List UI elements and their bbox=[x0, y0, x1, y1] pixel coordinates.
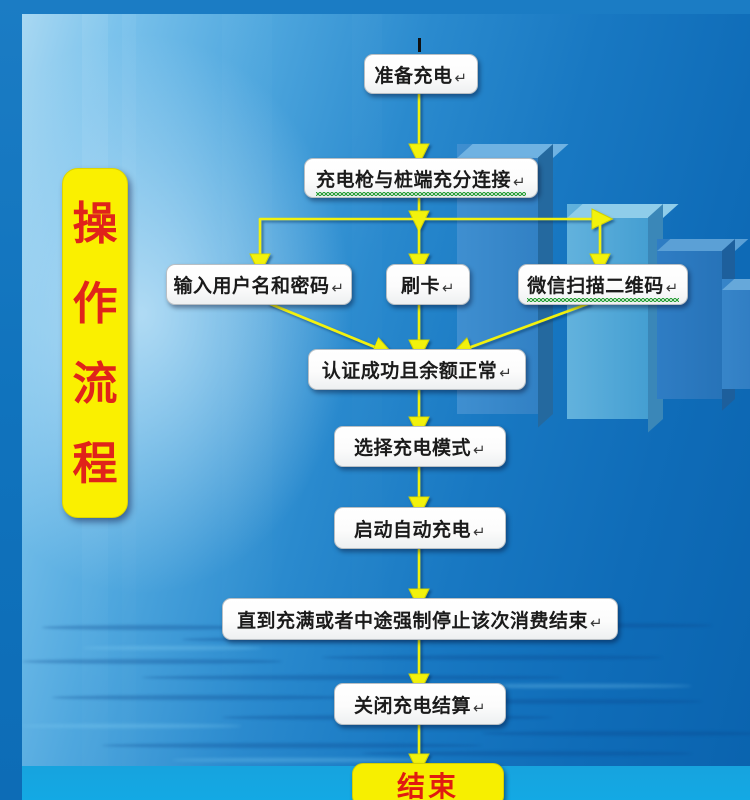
bg-streak bbox=[222, 14, 272, 800]
node-login[interactable]: 输入用户名和密码↵ bbox=[166, 264, 352, 305]
spellcheck-underline bbox=[316, 192, 526, 196]
node-label: 认证成功且余额正常↵ bbox=[322, 356, 513, 383]
node-auth[interactable]: 认证成功且余额正常↵ bbox=[308, 349, 526, 390]
flowchart-canvas: 操 作 流 程 准备充电↵ 充电枪与桩端充分连接↵ 输入用户名和密码↵ 刷卡↵ … bbox=[0, 0, 750, 800]
decorative-bar-4 bbox=[722, 279, 750, 389]
node-label: 关闭充电结算↵ bbox=[354, 691, 486, 718]
node-settle[interactable]: 关闭充电结算↵ bbox=[334, 683, 506, 725]
node-swipe[interactable]: 刷卡↵ bbox=[386, 264, 470, 305]
text-cursor-caret bbox=[418, 38, 421, 52]
node-prepare[interactable]: 准备充电↵ bbox=[364, 54, 478, 94]
vertical-title-char: 操 bbox=[72, 201, 117, 246]
decorative-bar-2 bbox=[567, 204, 663, 419]
node-label: 输入用户名和密码↵ bbox=[173, 271, 344, 298]
vertical-title-char: 流 bbox=[72, 361, 117, 406]
node-charging[interactable]: 直到充满或者中途强制停止该次消费结束↵ bbox=[222, 598, 618, 640]
node-label: 刷卡↵ bbox=[401, 271, 455, 298]
node-label: 结束 bbox=[397, 765, 459, 800]
node-qrcode[interactable]: 微信扫描二维码↵ bbox=[518, 264, 688, 305]
node-end-terminator[interactable]: 结束 bbox=[352, 763, 504, 800]
spellcheck-underline bbox=[527, 298, 679, 302]
node-label: 启动自动充电↵ bbox=[354, 515, 486, 542]
node-label: 准备充电↵ bbox=[374, 61, 467, 88]
vertical-title-char: 作 bbox=[72, 281, 117, 326]
node-label: 充电枪与桩端充分连接↵ bbox=[316, 165, 526, 192]
node-label: 微信扫描二维码↵ bbox=[527, 271, 679, 298]
vertical-title-banner: 操 作 流 程 bbox=[62, 168, 128, 518]
node-start[interactable]: 启动自动充电↵ bbox=[334, 507, 506, 549]
node-mode[interactable]: 选择充电模式↵ bbox=[334, 426, 506, 467]
node-label: 选择充电模式↵ bbox=[354, 433, 486, 460]
vertical-title-char: 程 bbox=[72, 441, 117, 486]
node-label: 直到充满或者中途强制停止该次消费结束↵ bbox=[237, 606, 603, 633]
node-connect[interactable]: 充电枪与桩端充分连接↵ bbox=[304, 158, 538, 198]
